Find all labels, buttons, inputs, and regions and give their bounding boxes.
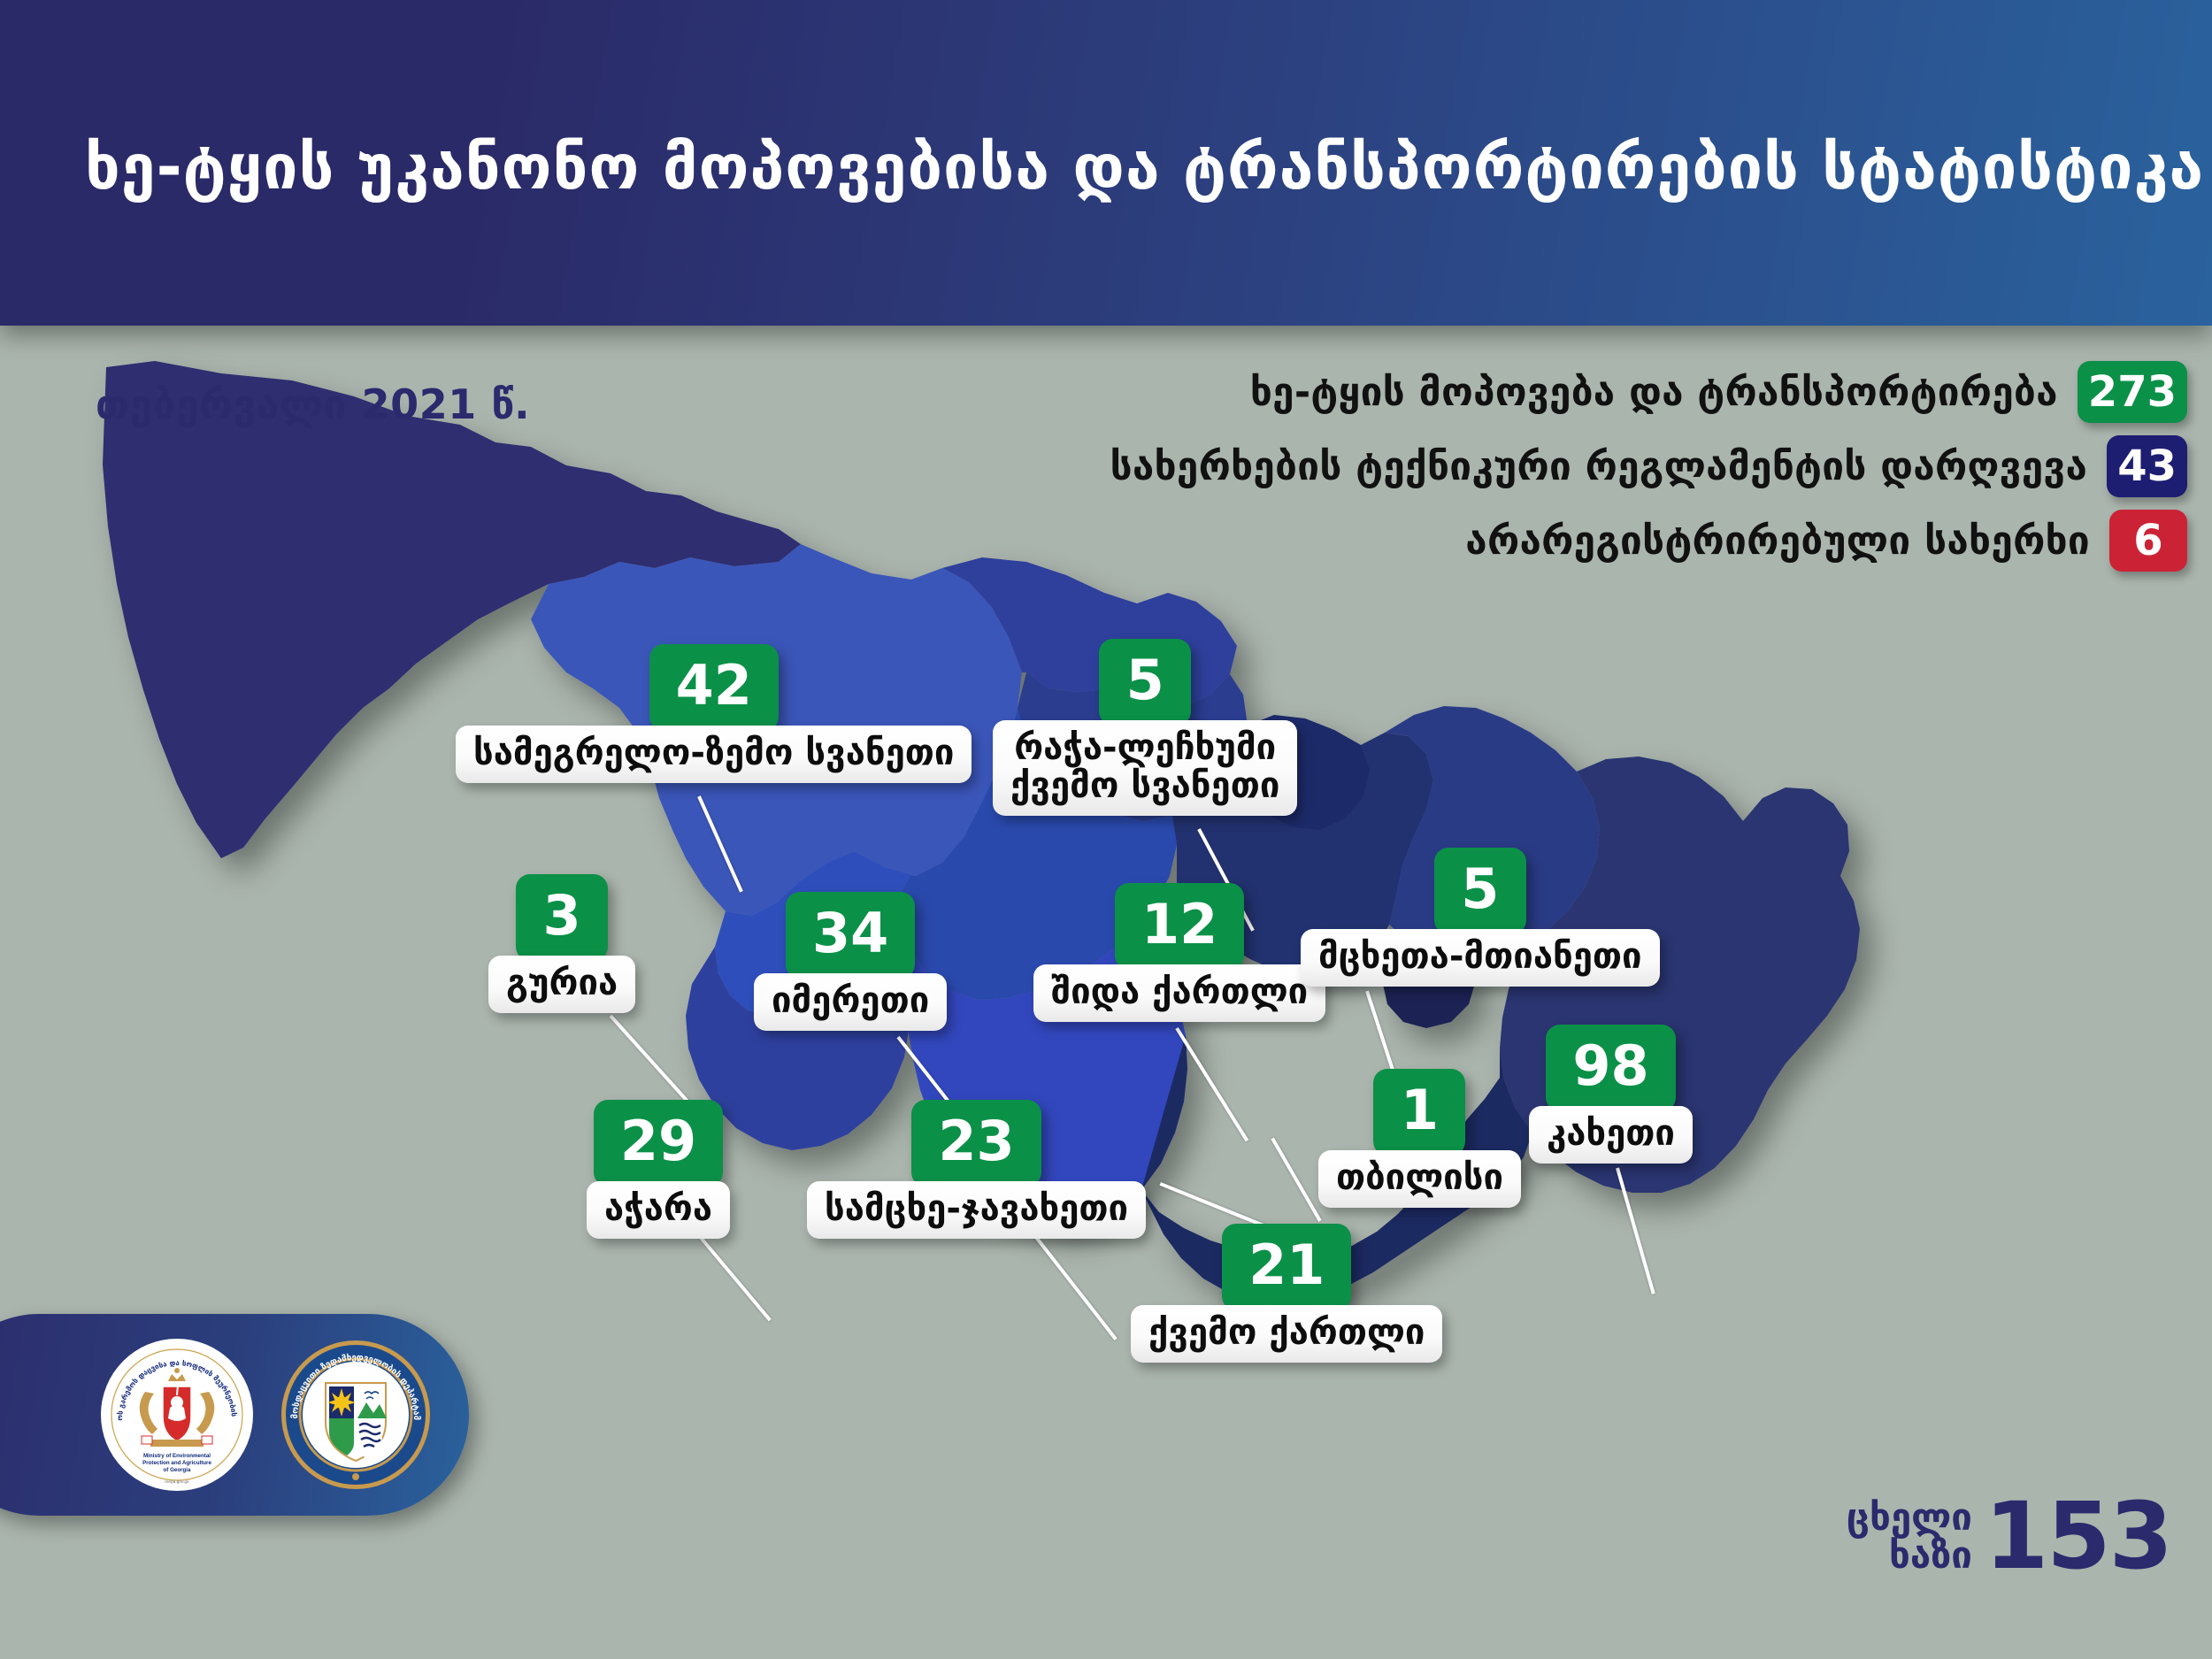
legend-value-sawmill-regulation: 43 <box>2107 435 2187 497</box>
legend-item-unregistered-sawmill: არარეგისტრირებული სახერხი 6 <box>1465 510 2187 572</box>
ministry-site: mepa.gov.ge <box>165 1480 189 1485</box>
marker-label: სამეგრელო-ზემო სვანეთი <box>456 726 972 783</box>
legend-label-logging: ხე-ტყის მოპოვება და ტრანსპორტირება <box>1250 370 2058 415</box>
marker-label: მცხეთა-მთიანეთი <box>1301 929 1660 987</box>
legend-item-logging: ხე-ტყის მოპოვება და ტრანსპორტირება 273 <box>1250 361 2187 423</box>
legend: ხე-ტყის მოპოვება და ტრანსპორტირება 273 ს… <box>1110 361 2187 572</box>
marker-label: აჭარა <box>587 1181 730 1239</box>
marker-value: 34 <box>786 892 915 979</box>
legend-label-unregistered-sawmill: არარეგისტრირებული სახერხი <box>1465 518 2090 564</box>
marker-value: 12 <box>1115 883 1244 970</box>
marker-value: 5 <box>1434 848 1526 934</box>
page-title: ხე-ტყის უკანონო მოპოვებისა და ტრანსპორტი… <box>85 131 2147 204</box>
hotline-word-2: ხაზი <box>1847 1537 1972 1575</box>
ministry-name-en-2: Protection and Agriculture <box>142 1460 211 1466</box>
marker-value: 98 <box>1546 1025 1675 1111</box>
marker-value: 23 <box>911 1100 1041 1187</box>
hotline-word-1: ცხელი <box>1847 1499 1972 1537</box>
marker-samegrelo-zemo-svaneti[interactable]: 42 სამეგრელო-ზემო სვანეთი <box>456 644 972 783</box>
ministry-name-en-3: of Georgia <box>164 1467 191 1473</box>
marker-shida-kartli[interactable]: 12 შიდა ქართლი <box>1033 883 1325 1022</box>
infographic-page: ხე-ტყის უკანონო მოპოვებისა და ტრანსპორტი… <box>0 0 2212 1659</box>
hotline-words: ცხელი ხაზი <box>1847 1499 1972 1575</box>
logo-bar: Ministry of Environmental Protection and… <box>0 1314 469 1516</box>
marker-value: 21 <box>1222 1224 1351 1310</box>
marker-racha-lechkhumi[interactable]: 5 რაჭა-ლეჩხუმი ქვემო სვანეთი <box>993 639 1297 816</box>
ministry-seal-icon: Ministry of Environmental Protection and… <box>99 1337 255 1493</box>
marker-label: სამცხე-ჯავახეთი <box>807 1181 1146 1239</box>
legend-item-sawmill-regulation: სახერხების ტექნიკური რეგლამენტის დარღვევ… <box>1110 435 2187 497</box>
marker-samtskhe-javakheti[interactable]: 23 სამცხე-ჯავახეთი <box>807 1100 1146 1239</box>
marker-value: 3 <box>516 874 608 961</box>
marker-label: რაჭა-ლეჩხუმი ქვემო სვანეთი <box>993 720 1297 816</box>
marker-kvemo-kartli[interactable]: 21 ქვემო ქართლი <box>1131 1224 1442 1363</box>
marker-adjara[interactable]: 29 აჭარა <box>587 1100 730 1239</box>
marker-mtskheta-mtianeti[interactable]: 5 მცხეთა-მთიანეთი <box>1301 848 1660 987</box>
marker-value: 42 <box>649 644 779 731</box>
marker-kakheti[interactable]: 98 კახეთი <box>1529 1025 1693 1164</box>
supervision-seal-icon: გარემოსდაცვითი ზედამხედველობის დეპარტამე… <box>278 1337 434 1493</box>
legend-label-sawmill-regulation: სახერხების ტექნიკური რეგლამენტის დარღვევ… <box>1110 444 2088 489</box>
marker-imereti[interactable]: 34 იმერეთი <box>754 892 947 1031</box>
marker-value: 1 <box>1373 1069 1465 1156</box>
marker-label: ქვემო ქართლი <box>1131 1305 1442 1363</box>
marker-tbilisi[interactable]: 1 თბილისი <box>1318 1069 1521 1208</box>
ministry-name-en-1: Ministry of Environmental <box>143 1453 211 1459</box>
header-banner: ხე-ტყის უკანონო მოპოვებისა და ტრანსპორტი… <box>0 0 2212 326</box>
marker-label: გურია <box>488 956 635 1013</box>
date-label: თებერვალი 2021 წ. <box>96 380 530 428</box>
hotline: ცხელი ხაზი 153 <box>1847 1494 2171 1579</box>
hotline-number: 153 <box>1985 1494 2171 1579</box>
marker-label: კახეთი <box>1529 1106 1693 1164</box>
legend-value-unregistered-sawmill: 6 <box>2109 510 2187 572</box>
marker-value: 29 <box>594 1100 723 1187</box>
marker-value: 5 <box>1099 639 1191 726</box>
marker-label: შიდა ქართლი <box>1033 964 1325 1022</box>
legend-value-logging: 273 <box>2078 361 2187 423</box>
marker-label: იმერეთი <box>754 973 947 1031</box>
marker-guria[interactable]: 3 გურია <box>488 874 635 1013</box>
marker-label: თბილისი <box>1318 1150 1521 1208</box>
